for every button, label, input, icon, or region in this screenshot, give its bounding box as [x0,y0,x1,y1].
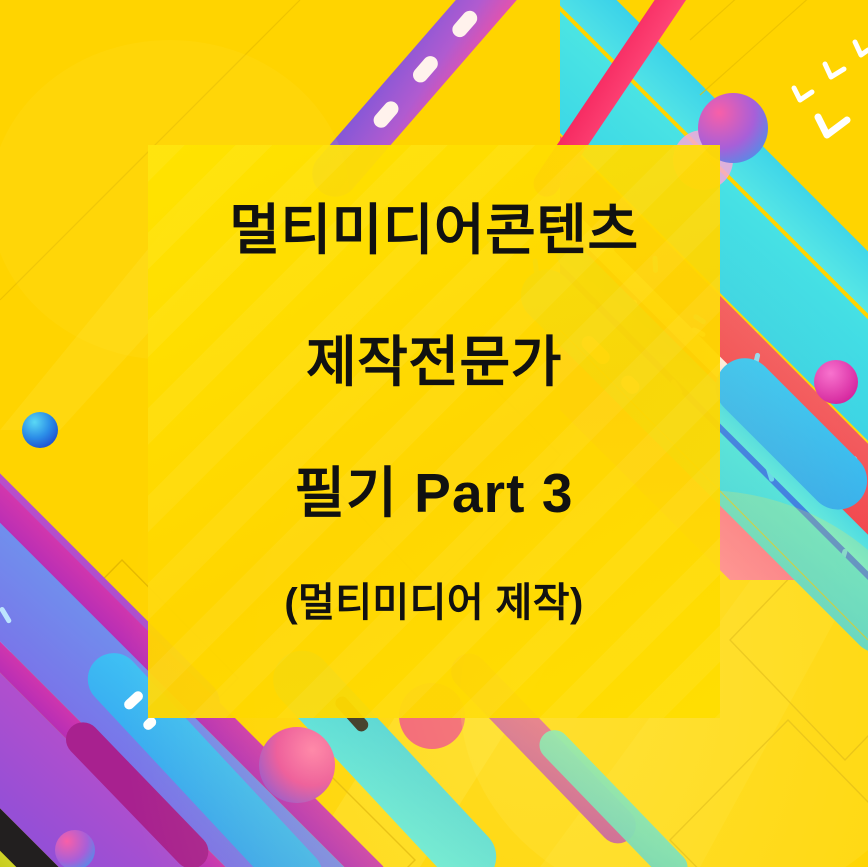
slide-canvas: 멀티미디어콘텐츠 제작전문가 필기 Part 3 (멀티미디어 제작) [0,0,868,867]
title-panel: 멀티미디어콘텐츠 제작전문가 필기 Part 3 (멀티미디어 제작) [148,145,720,718]
title-line-2: 제작전문가 [306,335,562,390]
title-subtitle: (멀티미디어 제작) [284,583,583,623]
title-line-1: 멀티미디어콘텐츠 [229,203,638,258]
title-line-3: 필기 Part 3 [294,466,573,521]
